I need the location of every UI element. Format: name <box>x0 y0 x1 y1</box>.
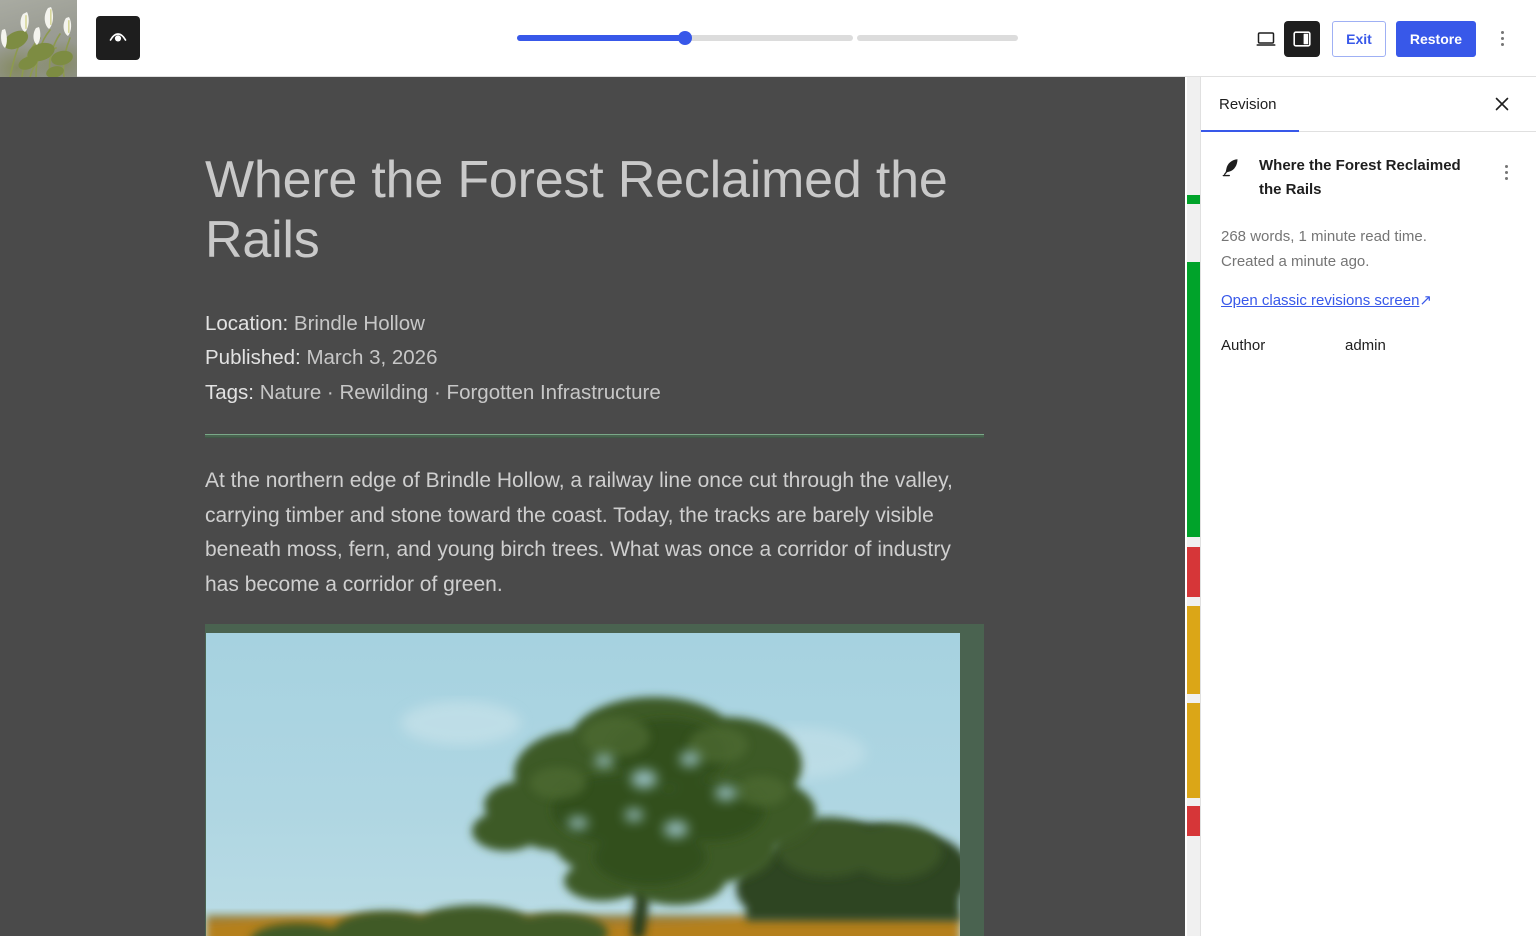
page-title: Where the Forest Reclaimed the Rails <box>205 77 985 271</box>
meta-row-tags: Tags: Nature · Rewilding · Forgotten Inf… <box>205 376 985 411</box>
site-icon-botanical[interactable] <box>0 0 77 77</box>
meta-value-location: Brindle Hollow <box>294 312 425 335</box>
meta-row-published: Published: March 3, 2026 <box>205 341 985 376</box>
close-icon <box>1492 94 1512 114</box>
tab-active-indicator <box>1201 130 1299 132</box>
image-block <box>205 624 984 936</box>
body-paragraph: At the northern edge of Brindle Hollow, … <box>205 438 977 602</box>
restore-button[interactable]: Restore <box>1396 21 1476 57</box>
revision-sidebar: Revision Where the Forest Reclaimed the … <box>1200 77 1536 936</box>
eye-icon <box>106 26 130 50</box>
revision-comparison-screen: Exit Restore Where the Forest Reclaimed … <box>0 0 1536 936</box>
meta-value-published: March 3, 2026 <box>306 346 437 369</box>
desktop-icon <box>1254 27 1278 51</box>
close-sidebar-button[interactable] <box>1484 86 1520 122</box>
tab-revision[interactable]: Revision <box>1219 96 1277 113</box>
revision-change-indicator <box>1187 77 1200 936</box>
feather-quill-icon <box>1219 155 1243 179</box>
header-actions: Exit Restore <box>1248 0 1520 77</box>
external-link-arrow-icon: ↗ <box>1419 291 1432 309</box>
open-classic-revisions-link[interactable]: Open classic revisions screen↗ <box>1221 291 1432 309</box>
dot <box>1501 31 1504 34</box>
device-preview-button[interactable] <box>1248 21 1284 57</box>
slider-track-segment-2[interactable] <box>857 35 1018 41</box>
dot <box>1501 37 1504 40</box>
open-classic-revisions-label: Open classic revisions screen <box>1221 292 1419 309</box>
diff-segment-removed <box>1187 806 1200 836</box>
slider-fill <box>517 35 687 41</box>
exit-button[interactable]: Exit <box>1332 21 1386 57</box>
sidebar-toggle-button[interactable] <box>1284 21 1320 57</box>
post-meta: Location: Brindle Hollow Published: Marc… <box>205 307 985 411</box>
author-label: Author <box>1221 337 1345 354</box>
meta-label-published: Published: <box>205 346 301 369</box>
revision-options-button[interactable] <box>1488 154 1524 190</box>
revision-title: Where the Forest Reclaimed the Rails <box>1259 154 1480 202</box>
dot <box>1505 165 1508 168</box>
site-icon-plants <box>0 0 77 77</box>
dot <box>1505 171 1508 174</box>
diff-segment-removed <box>1187 547 1200 597</box>
diff-segment-added <box>1187 262 1200 537</box>
meta-row-location: Location: Brindle Hollow <box>205 307 985 342</box>
slider-thumb[interactable] <box>678 31 692 45</box>
dot <box>1505 177 1508 180</box>
diff-segment-changed <box>1187 606 1200 694</box>
meta-value-tags: Nature · Rewilding · Forgotten Infrastru… <box>260 381 661 404</box>
tree-photo-illustration <box>206 633 960 936</box>
author-row: Author admin <box>1201 337 1536 354</box>
diff-segment-changed <box>1187 703 1200 798</box>
revision-created: Created a minute ago. <box>1221 249 1516 274</box>
revision-header: Where the Forest Reclaimed the Rails <box>1201 132 1536 202</box>
revision-stats: 268 words, 1 minute read time. Created a… <box>1201 202 1536 274</box>
dot <box>1501 43 1504 46</box>
author-value: admin <box>1345 337 1516 354</box>
sidebar-tabbar: Revision <box>1201 77 1536 132</box>
sidebar-panel-icon <box>1290 27 1314 51</box>
revision-slider[interactable] <box>517 31 1018 45</box>
post-image <box>206 633 960 936</box>
preview-canvas: Where the Forest Reclaimed the Rails Loc… <box>0 77 1185 936</box>
document-content: Where the Forest Reclaimed the Rails Loc… <box>205 77 985 936</box>
meta-label-tags: Tags: <box>205 381 254 404</box>
preview-toggle-button[interactable] <box>96 16 140 60</box>
diff-segment-added <box>1187 195 1200 204</box>
meta-label-location: Location: <box>205 312 288 335</box>
revision-wordcount: 268 words, 1 minute read time. <box>1221 224 1516 249</box>
editor-header: Exit Restore <box>0 0 1536 77</box>
more-options-button[interactable] <box>1484 21 1520 57</box>
